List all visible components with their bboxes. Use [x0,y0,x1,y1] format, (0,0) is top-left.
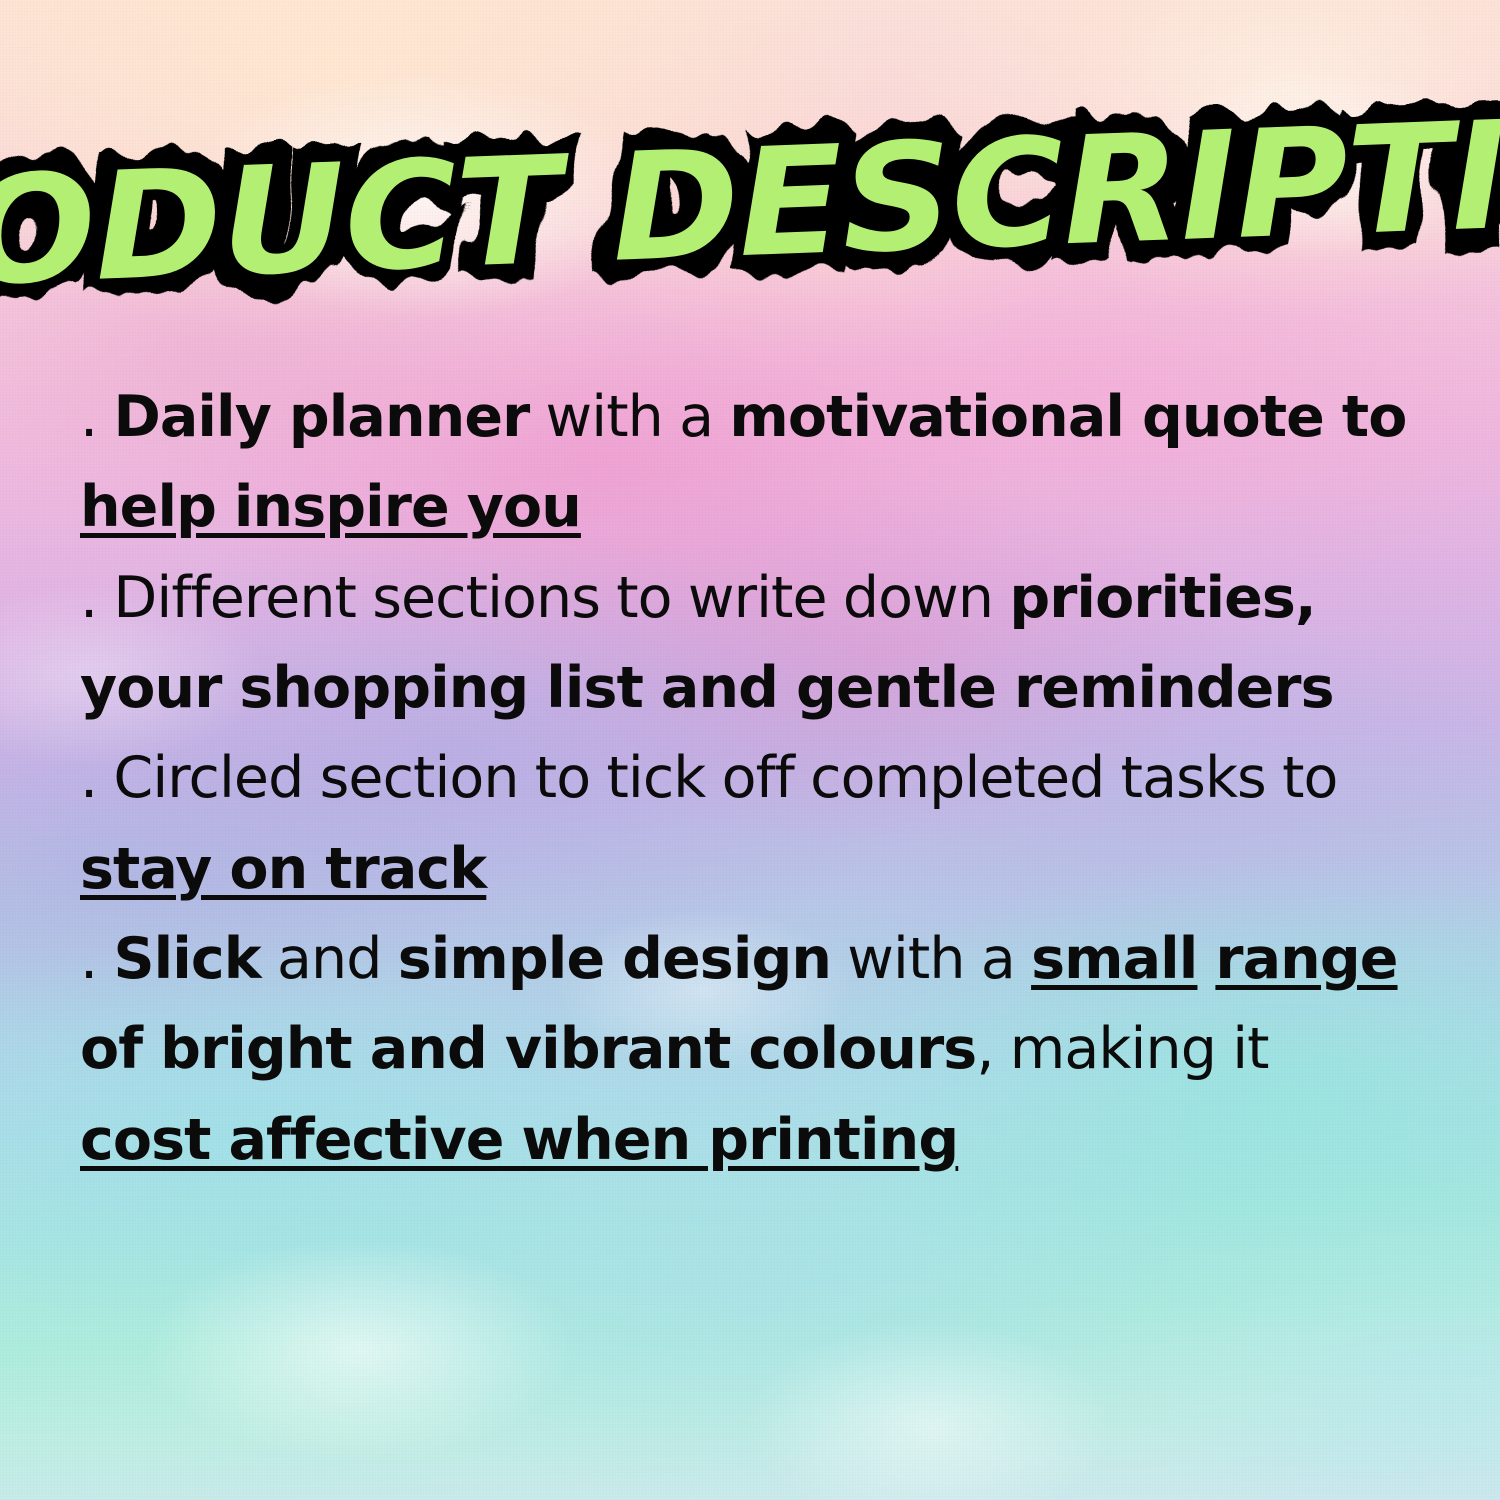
page-title: PRODUCT DESCRIPTION PRODUCT DESCRIPTION [0,104,1500,304]
text-run: . [80,384,113,450]
text-run: with a [529,384,729,450]
list-item: . Daily planner with a motivational quot… [80,372,1410,553]
text-run: . [80,926,113,992]
text-run: range [1215,926,1397,992]
text-run: , making it [976,1016,1268,1082]
text-run: small [1031,926,1197,992]
text-run: with a [831,926,1031,992]
list-item: . Different sections to write down prior… [80,553,1410,734]
text-run: motivational quote to [729,384,1406,450]
text-run: of bright and vibrant colours [80,1016,976,1082]
text-run: cost affective when printing [80,1107,958,1173]
description-bullet-list: . Daily planner with a motivational quot… [80,372,1410,1185]
text-run: Daily planner [113,384,529,450]
text-run: . Different sections to write down [80,565,1009,631]
product-description-poster: PRODUCT DESCRIPTION PRODUCT DESCRIPTION … [0,0,1500,1500]
title-stack: PRODUCT DESCRIPTION PRODUCT DESCRIPTION [0,111,1500,298]
list-item: . Slick and simple design with a small r… [80,914,1410,1185]
text-run: . Circled section to tick off completed … [80,745,1338,811]
text-run: help inspire you [80,474,581,540]
text-run: and [261,926,398,992]
list-item: . Circled section to tick off completed … [80,733,1410,914]
text-run: Slick [113,926,260,992]
text-run: stay on track [80,836,486,902]
text-run: simple design [398,926,831,992]
text-run [1197,926,1215,992]
page-title-text: PRODUCT DESCRIPTION [0,93,1500,316]
